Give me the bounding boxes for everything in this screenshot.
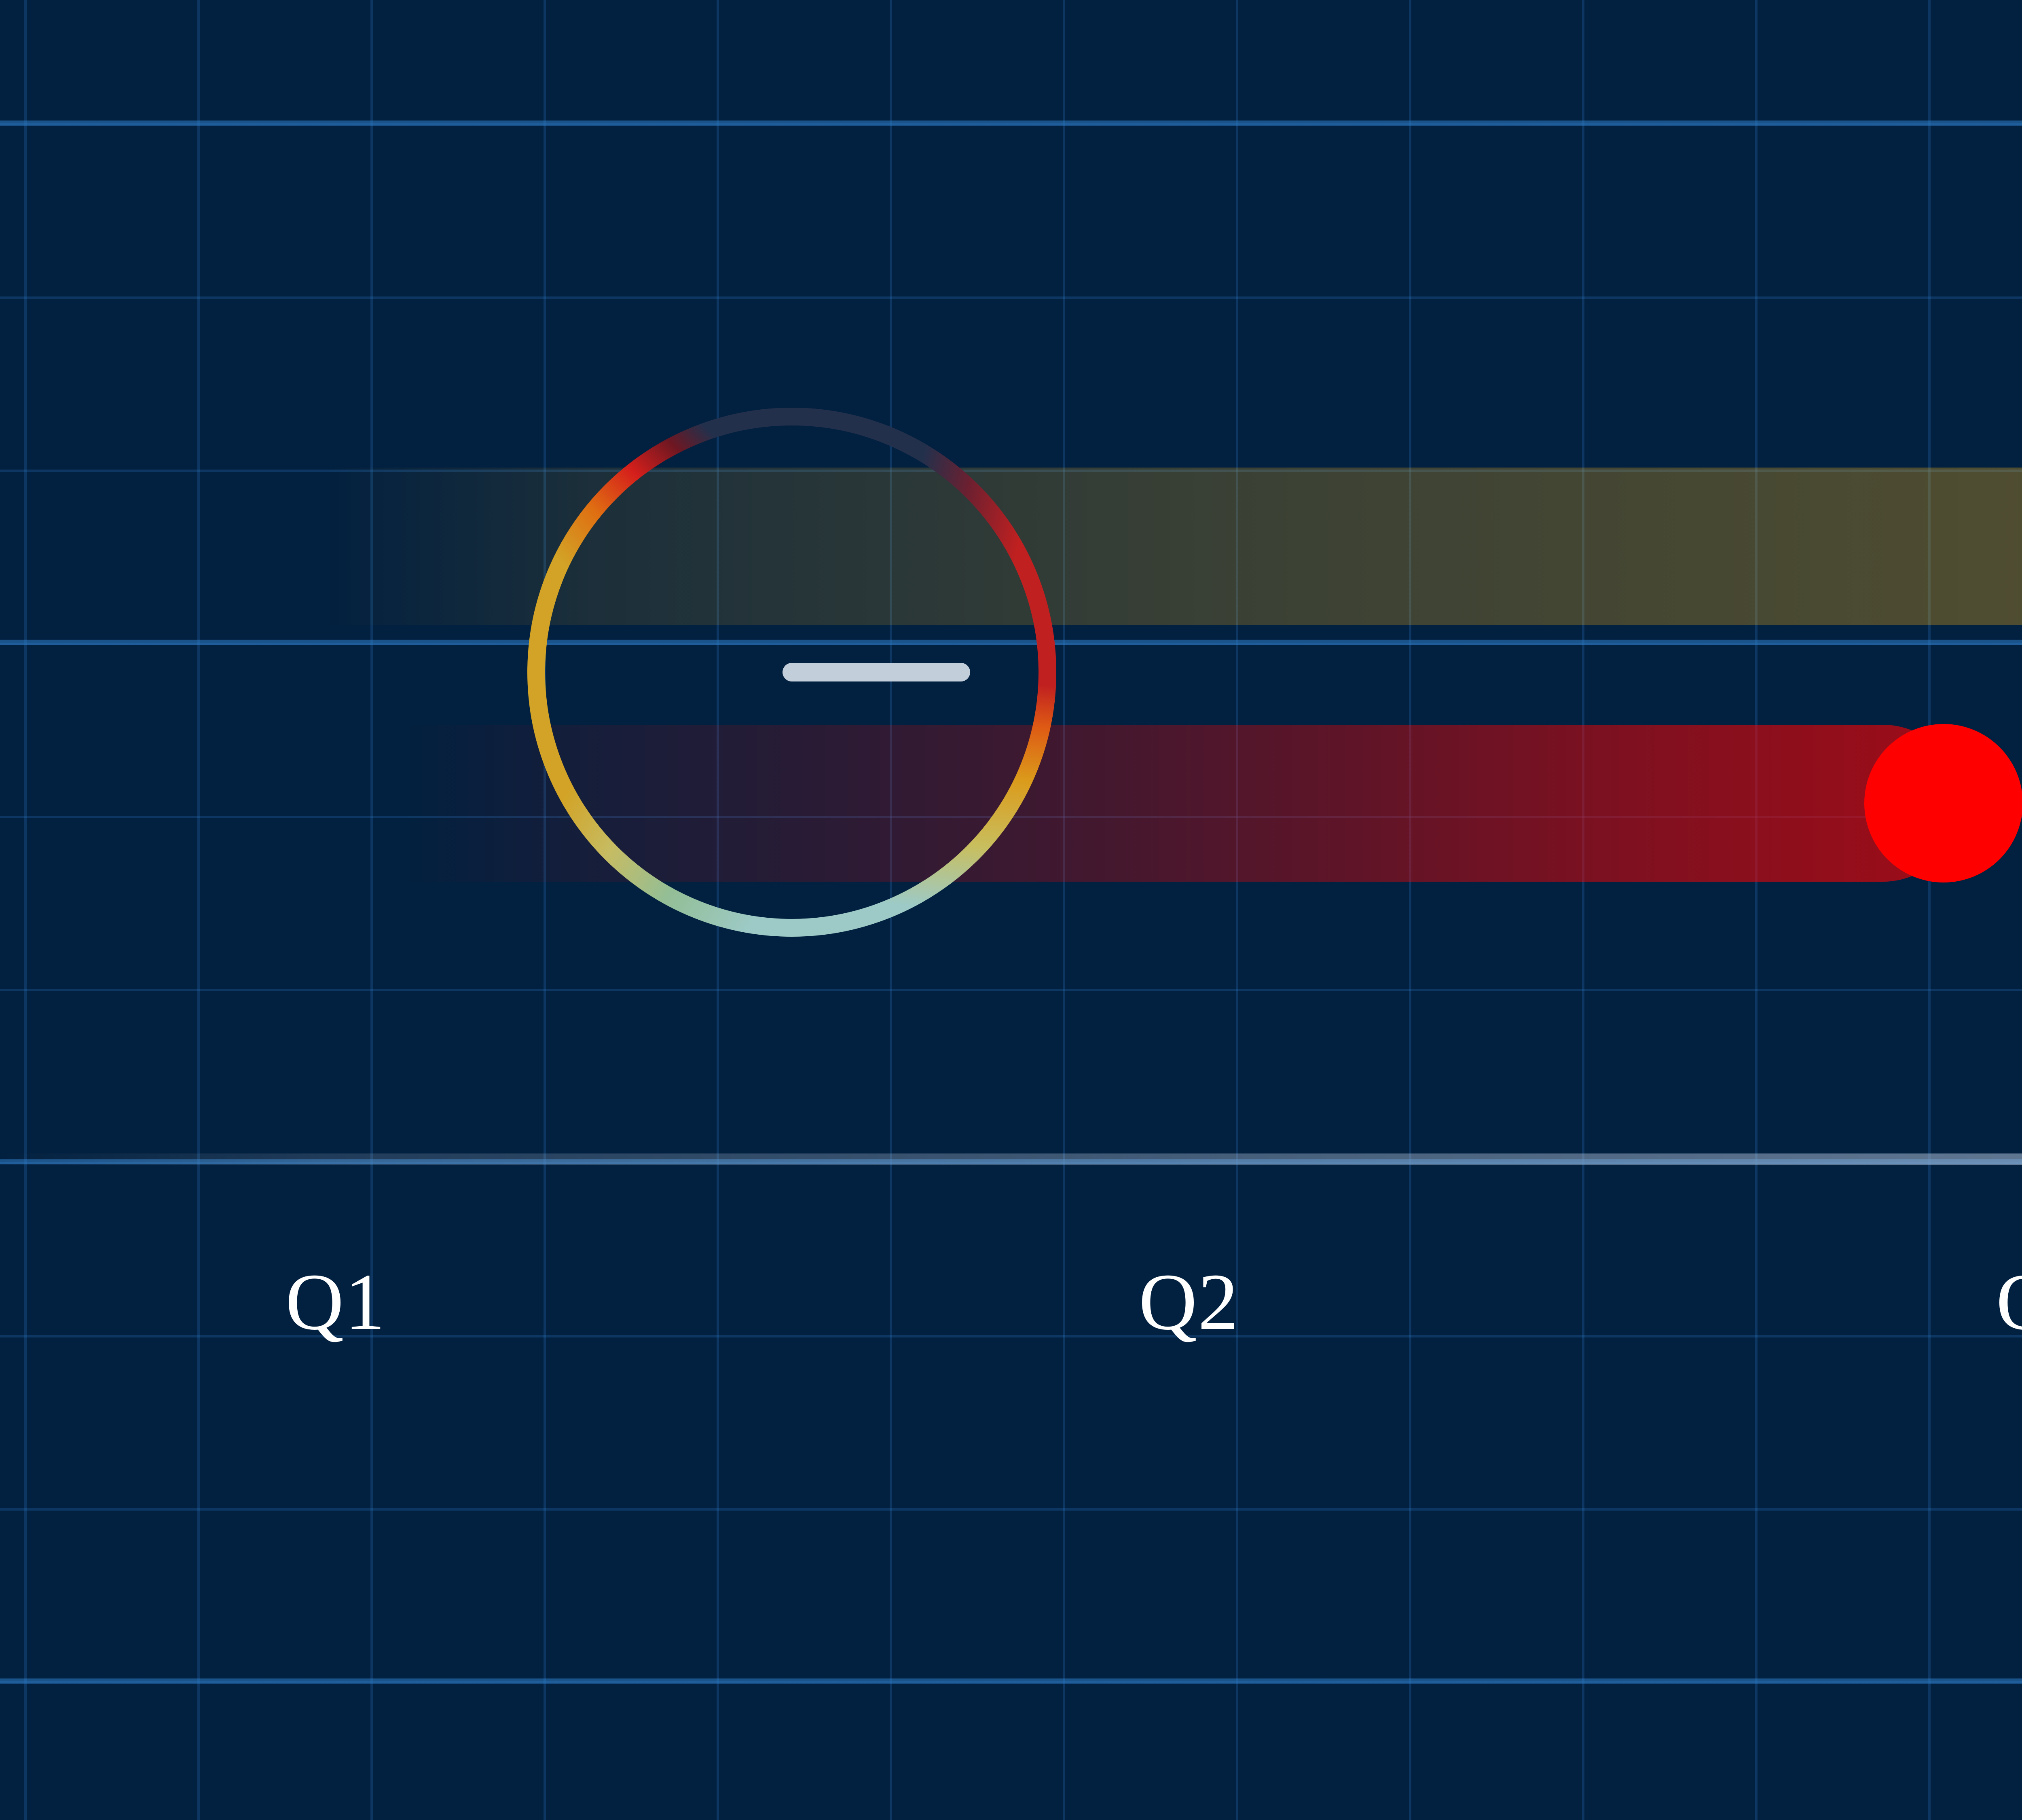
axis-tick-q2: Q2 xyxy=(1068,1250,1310,1355)
clock-icon xyxy=(509,389,1075,955)
axis-tick-q3: Q3 xyxy=(1925,1250,2022,1355)
axis-tick-labels: Q1 Q2 Q3 Q4 xyxy=(0,1250,2022,1371)
chart-canvas: Q1 Q2 Q3 Q4 xyxy=(0,0,2022,1820)
marker-dot-series-2[interactable] xyxy=(1864,724,2022,882)
axis-tick-q1: Q1 xyxy=(214,1250,457,1355)
axis-baseline xyxy=(0,1153,2022,1165)
